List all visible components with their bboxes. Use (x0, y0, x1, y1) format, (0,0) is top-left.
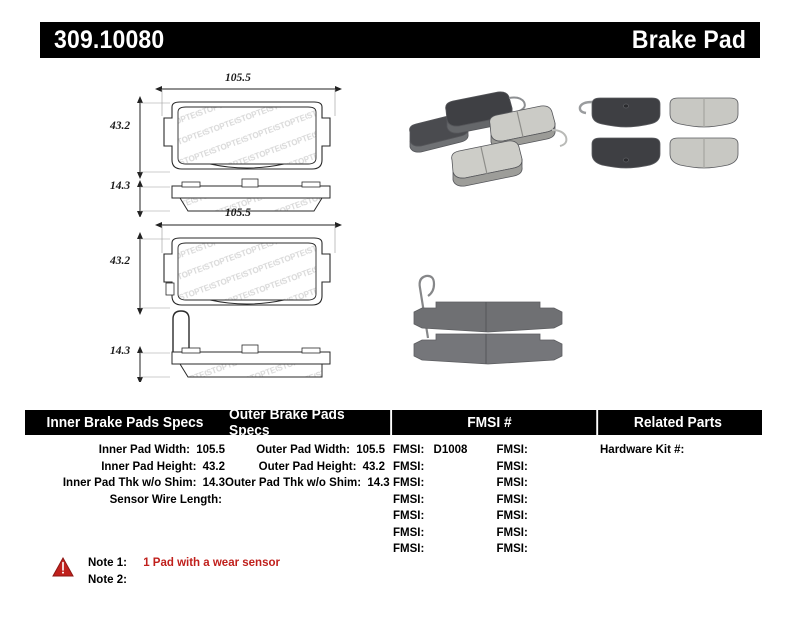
fmsi-value (528, 543, 534, 555)
spec-row: Outer Pad Height: 43.2 (225, 459, 385, 476)
spec-label: Outer Pad Height: (259, 461, 357, 473)
spec-value: 105.5 (193, 444, 225, 456)
fmsi-label: FMSI: (497, 543, 528, 555)
fmsi-row: FMSI: (489, 525, 593, 542)
product-illustrations: STOPTECH 105.5 43.2 (0, 62, 800, 392)
column-header-fmsi: FMSI # (390, 410, 587, 435)
fmsi-subcolumn-left: FMSI: D1008 FMSI: FMSI: FMSI: FMSI: (385, 442, 489, 558)
inner-pad-thickness-dim: 14.3 (110, 180, 130, 192)
fmsi-row: FMSI: (385, 541, 489, 558)
fmsi-label: FMSI: (393, 510, 424, 522)
fmsi-row: FMSI: (489, 541, 593, 558)
spec-row: Sensor Wire Length: (25, 492, 225, 509)
fmsi-label: FMSI: (393, 477, 424, 489)
fmsi-value (424, 461, 430, 473)
fmsi-column: FMSI: D1008 FMSI: FMSI: FMSI: FMSI: (385, 442, 592, 558)
fmsi-row: FMSI: (489, 442, 593, 459)
fmsi-label: FMSI: (393, 461, 424, 473)
fmsi-value (528, 461, 534, 473)
fmsi-row: FMSI: (385, 508, 489, 525)
fmsi-subcolumn-right: FMSI: FMSI: FMSI: FMSI: FMSI: (489, 442, 593, 558)
outer-pad-thickness-dim: 14.3 (110, 345, 130, 357)
spec-row (225, 492, 385, 509)
column-header-related-parts: Related Parts (596, 410, 758, 435)
related-part-label: Hardware Kit #: (600, 444, 684, 456)
fmsi-value: D1008 (428, 444, 468, 456)
spec-label: Sensor Wire Length: (110, 494, 222, 506)
fmsi-row: FMSI: (489, 492, 593, 509)
specifications-table: Inner Brake Pads Specs Outer Brake Pads … (25, 410, 762, 558)
spec-value: 14.3 (200, 477, 225, 489)
spec-row: Outer Pad Width: 105.5 (225, 442, 385, 459)
note-1-value: 1 Pad with a wear sensor (137, 557, 280, 569)
fmsi-label: FMSI: (393, 444, 424, 456)
fmsi-value (424, 543, 430, 555)
spec-row: Inner Pad Width: 105.5 (25, 442, 225, 459)
inner-pad-width-dim: 105.5 (225, 72, 251, 84)
fmsi-value (424, 527, 430, 539)
note-1-label: Note 1: (88, 555, 134, 572)
spec-label: Outer Pad Width: (256, 444, 350, 456)
column-header-outer-specs: Outer Brake Pads Specs (229, 410, 381, 435)
notes-text-block: Note 1: 1 Pad with a wear sensor Note 2: (88, 555, 280, 589)
note-2-value (134, 574, 140, 586)
inner-specs-column: Inner Pad Width: 105.5 Inner Pad Height:… (25, 442, 225, 558)
spec-label: Outer Pad Thk w/o Shim: (225, 477, 361, 489)
fmsi-row: FMSI: D1008 (385, 442, 489, 459)
brake-pads-angled-photo (398, 84, 573, 194)
fmsi-value (528, 510, 534, 522)
outer-pad-cad-drawing (110, 207, 390, 382)
spec-row: Inner Pad Height: 43.2 (25, 459, 225, 476)
column-header-inner-specs: Inner Brake Pads Specs (30, 410, 220, 435)
outer-specs-column: Outer Pad Width: 105.5 Outer Pad Height:… (225, 442, 385, 558)
spec-label: Inner Pad Height: (101, 461, 196, 473)
fmsi-value (528, 444, 534, 456)
fmsi-label: FMSI: (497, 461, 528, 473)
fmsi-value (424, 494, 430, 506)
outer-pad-height-dim: 43.2 (110, 255, 130, 267)
fmsi-value (528, 477, 534, 489)
related-parts-column: Hardware Kit #: (592, 442, 762, 558)
spec-value: 105.5 (353, 444, 385, 456)
fmsi-value (424, 477, 430, 489)
note-2-line: Note 2: (88, 572, 280, 589)
spec-row: Outer Pad Thk w/o Shim: 14.3 (225, 475, 385, 492)
fmsi-label: FMSI: (497, 510, 528, 522)
brake-pads-flat-photo (570, 92, 750, 187)
fmsi-label: FMSI: (497, 494, 528, 506)
inner-pad-height-dim: 43.2 (110, 120, 130, 132)
spec-label: Inner Pad Width: (99, 444, 190, 456)
warning-triangle-icon (52, 557, 74, 577)
fmsi-value (528, 527, 534, 539)
fmsi-row: FMSI: (385, 525, 489, 542)
page-header-bar: 309.10080 Brake Pad (40, 22, 760, 58)
spec-value: 43.2 (200, 461, 225, 473)
spec-label: Inner Pad Thk w/o Shim: (63, 477, 197, 489)
spec-table-body: Inner Pad Width: 105.5 Inner Pad Height:… (25, 435, 762, 558)
outer-pad-width-dim: 105.5 (225, 207, 251, 219)
fmsi-label: FMSI: (393, 543, 424, 555)
fmsi-row: FMSI: (385, 475, 489, 492)
spec-value: 43.2 (360, 461, 385, 473)
fmsi-row: FMSI: (489, 508, 593, 525)
product-type-title: Brake Pad (632, 26, 746, 55)
fmsi-label: FMSI: (497, 444, 528, 456)
fmsi-value (424, 510, 430, 522)
related-part-row: Hardware Kit #: (592, 442, 762, 459)
note-2-label: Note 2: (88, 572, 134, 589)
spec-table-header-row: Inner Brake Pads Specs Outer Brake Pads … (25, 410, 762, 435)
fmsi-label: FMSI: (393, 527, 424, 539)
fmsi-value (528, 494, 534, 506)
part-number: 309.10080 (54, 26, 164, 55)
fmsi-label: FMSI: (497, 527, 528, 539)
brake-pads-edge-photo (398, 252, 578, 370)
fmsi-row: FMSI: (385, 492, 489, 509)
inner-pad-cad-drawing: STOPTECH (110, 72, 390, 217)
fmsi-row: FMSI: (385, 459, 489, 476)
fmsi-label: FMSI: (497, 477, 528, 489)
fmsi-row: FMSI: (489, 475, 593, 492)
notes-section: Note 1: 1 Pad with a wear sensor Note 2: (52, 555, 280, 589)
fmsi-label: FMSI: (393, 494, 424, 506)
note-1-line: Note 1: 1 Pad with a wear sensor (88, 555, 280, 572)
spec-row: Inner Pad Thk w/o Shim: 14.3 (25, 475, 225, 492)
fmsi-row: FMSI: (489, 459, 593, 476)
